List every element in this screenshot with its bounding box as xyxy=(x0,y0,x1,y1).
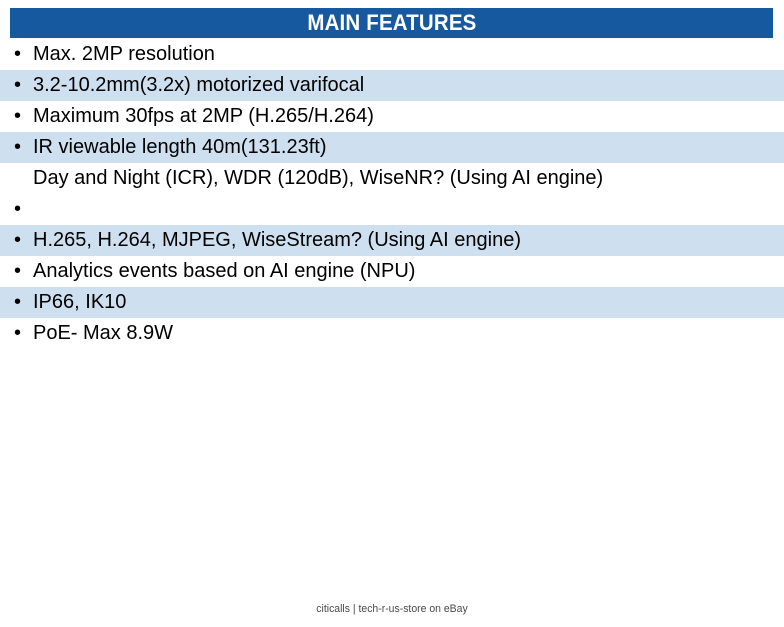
bullet-icon: • xyxy=(14,225,33,256)
feature-row: •Maximum 30fps at 2MP (H.265/H.264) xyxy=(0,101,784,132)
feature-text: Analytics events based on AI engine (NPU… xyxy=(33,256,784,287)
main-features-header: MAIN FEATURES xyxy=(10,8,773,38)
feature-row: •Day and Night (ICR), WDR (120dB), WiseN… xyxy=(0,163,784,225)
feature-row: •Analytics events based on AI engine (NP… xyxy=(0,256,784,287)
feature-row: •Max. 2MP resolution xyxy=(0,39,784,70)
feature-text: IP66, IK10 xyxy=(33,287,784,318)
footer-credit: citicalls | tech-r-us-store on eBay xyxy=(20,602,765,616)
bullet-icon: • xyxy=(14,132,33,163)
feature-row: •IR viewable length 40m(131.23ft) xyxy=(0,132,784,163)
feature-text: Max. 2MP resolution xyxy=(33,39,784,70)
bullet-icon: • xyxy=(14,287,33,318)
feature-text: H.265, H.264, MJPEG, WiseStream? (Using … xyxy=(33,225,784,256)
bullet-icon: • xyxy=(14,70,33,101)
bullet-icon: • xyxy=(14,163,33,225)
feature-row: •H.265, H.264, MJPEG, WiseStream? (Using… xyxy=(0,225,784,256)
bullet-icon: • xyxy=(14,318,33,349)
bullet-icon: • xyxy=(14,101,33,132)
feature-row: •IP66, IK10 xyxy=(0,287,784,318)
bullet-icon: • xyxy=(14,256,33,287)
feature-text: PoE- Max 8.9W xyxy=(33,318,784,349)
feature-row: •3.2-10.2mm(3.2x) motorized varifocal xyxy=(0,70,784,101)
feature-text: IR viewable length 40m(131.23ft) xyxy=(33,132,784,163)
feature-list: •Max. 2MP resolution•3.2-10.2mm(3.2x) mo… xyxy=(0,39,784,349)
feature-text: Maximum 30fps at 2MP (H.265/H.264) xyxy=(33,101,784,132)
feature-text: 3.2-10.2mm(3.2x) motorized varifocal xyxy=(33,70,784,101)
feature-slide: MAIN FEATURES •Max. 2MP resolution•3.2-1… xyxy=(0,0,784,627)
page-title: MAIN FEATURES xyxy=(307,12,476,34)
feature-row: •PoE- Max 8.9W xyxy=(0,318,784,349)
bullet-icon: • xyxy=(14,39,33,70)
feature-text: Day and Night (ICR), WDR (120dB), WiseNR… xyxy=(33,163,784,194)
